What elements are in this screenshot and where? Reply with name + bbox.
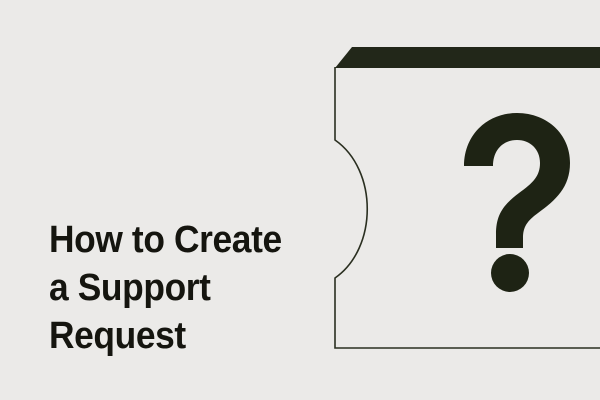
card-outline-svg <box>330 36 600 362</box>
title-line-2: a Support <box>49 264 309 312</box>
slide-canvas: How to Create a Support Request <box>0 0 600 400</box>
title-line-1: How to Create <box>49 216 309 264</box>
card-panel-outline <box>335 67 600 348</box>
card-top-bar <box>335 47 600 68</box>
support-card-illustration <box>330 36 600 362</box>
title-line-3: Request <box>49 312 309 360</box>
page-title: How to Create a Support Request <box>49 216 329 360</box>
